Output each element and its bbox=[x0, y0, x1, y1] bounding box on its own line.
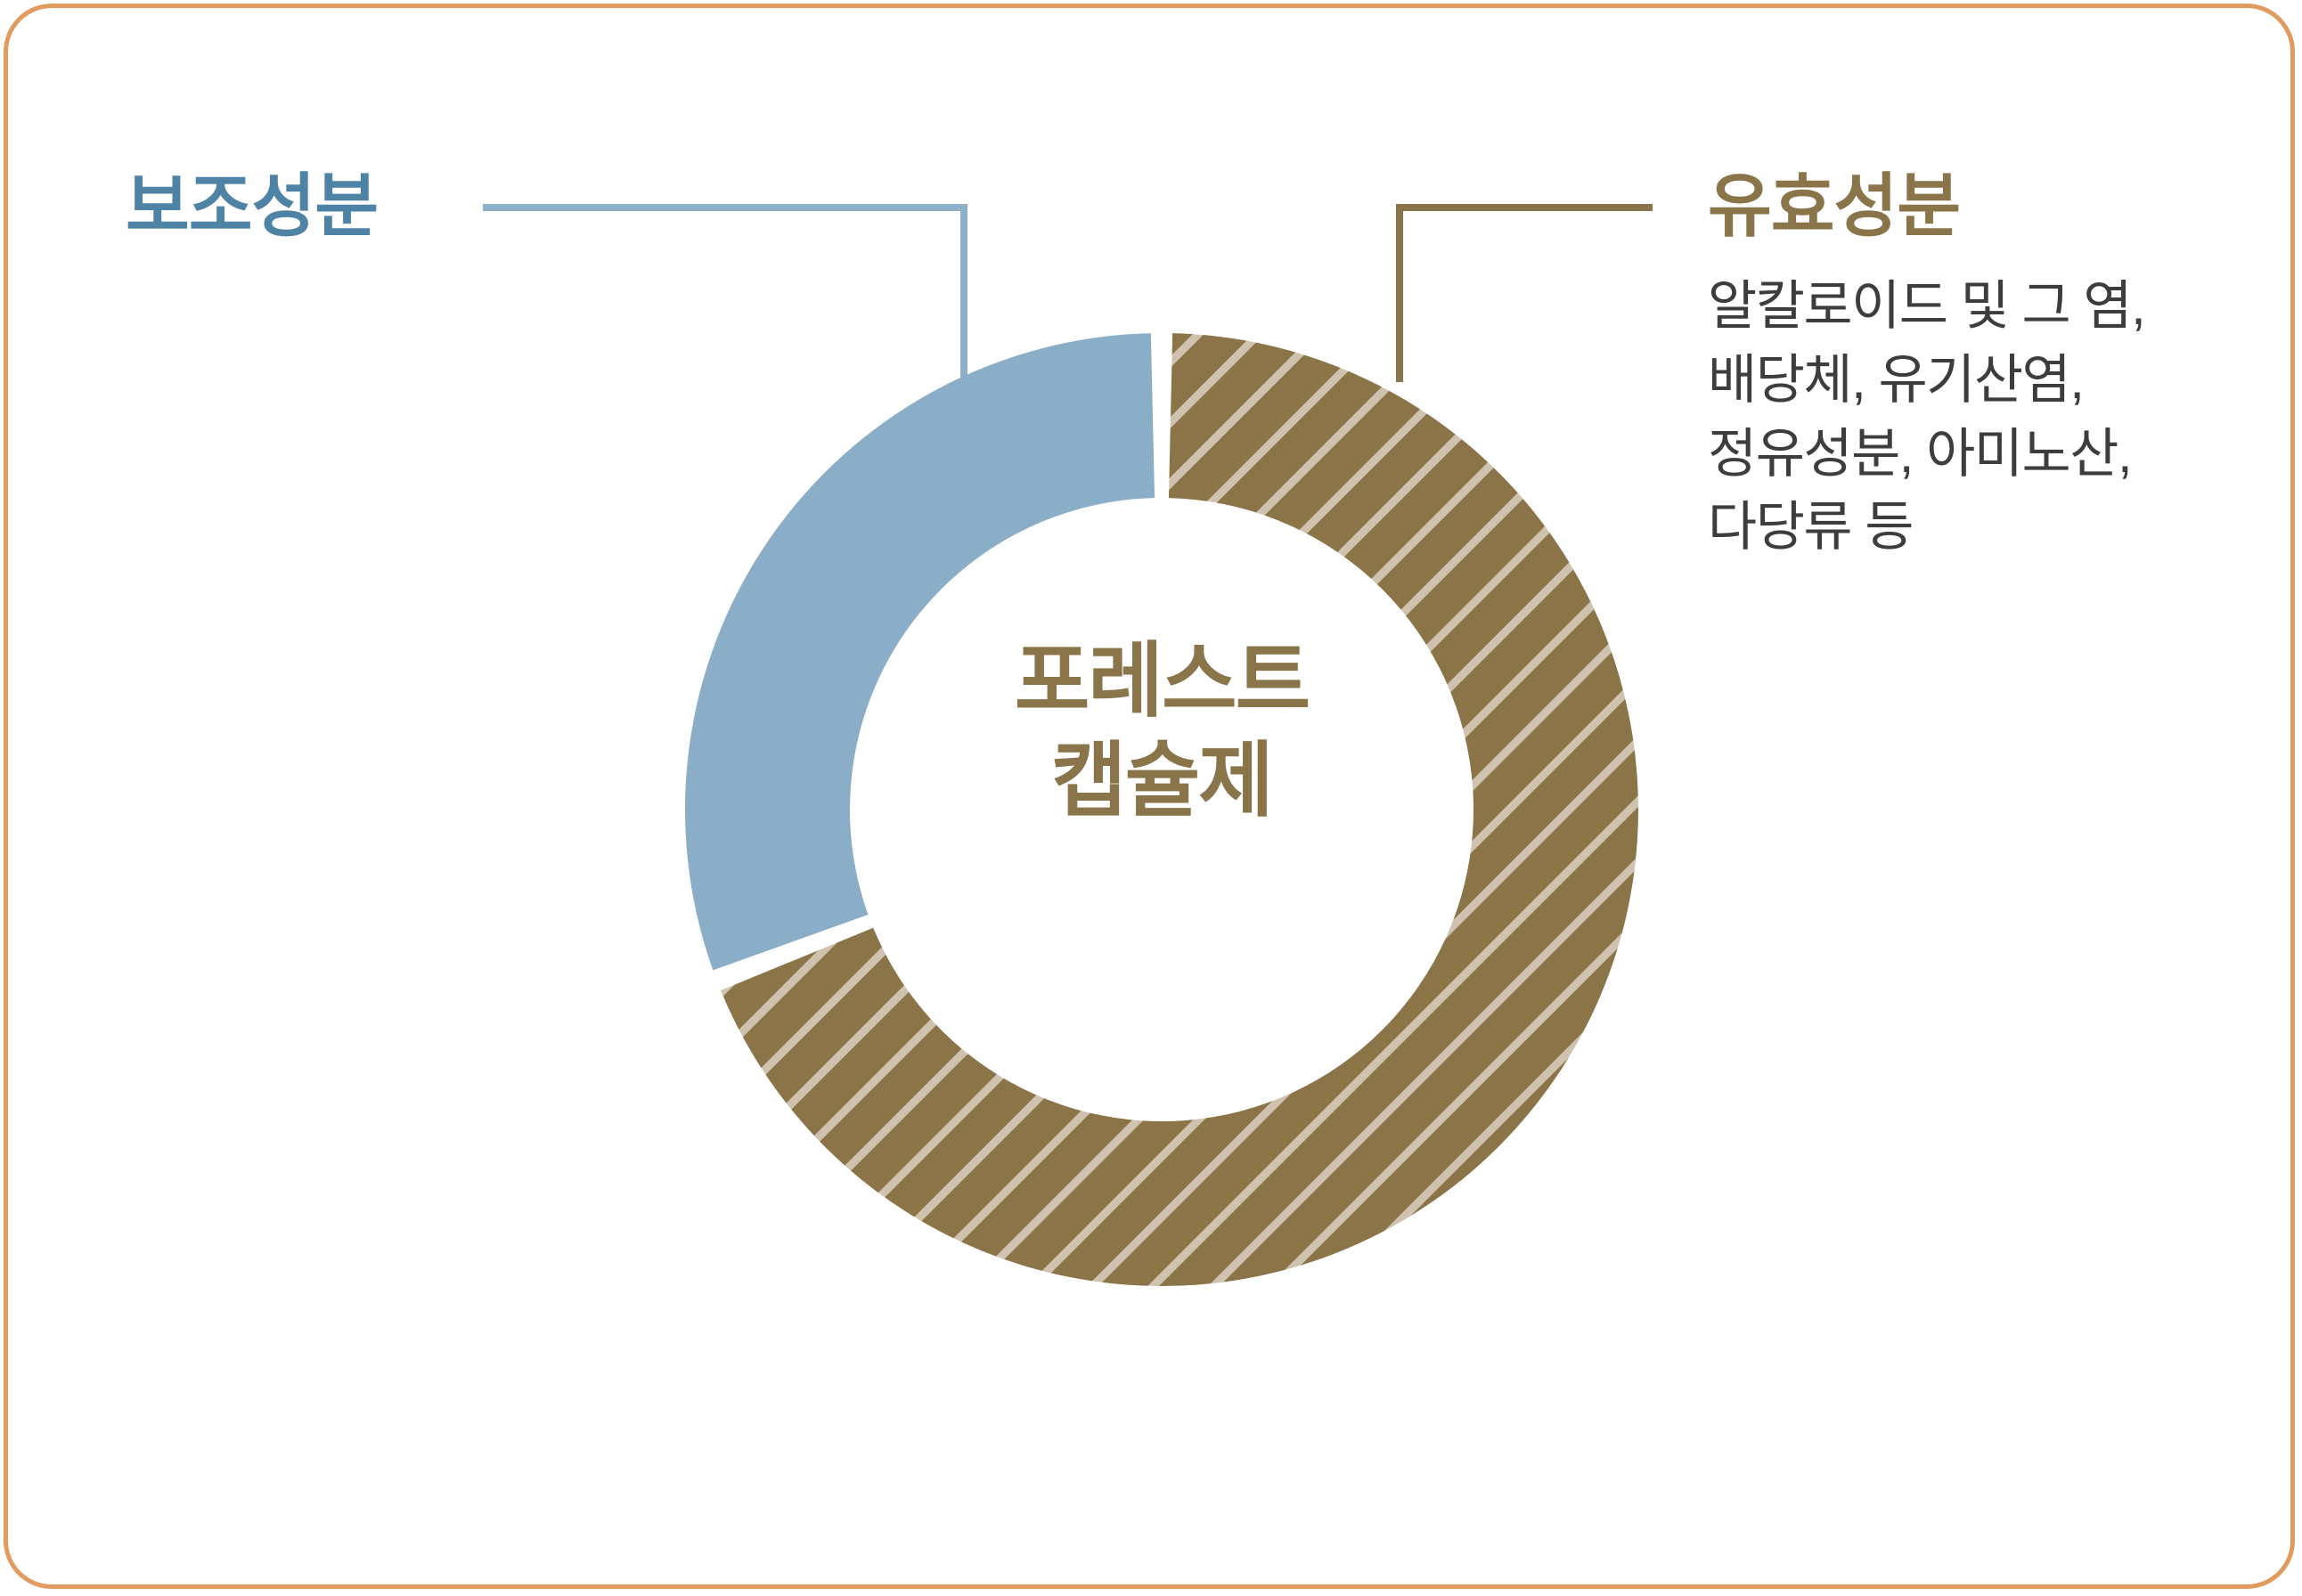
active-ingredient-detail-line-1: 알칼로이드 및 그 염, bbox=[1708, 270, 2278, 344]
active-ingredient-detail-line-2: 배당체, 유기산염, bbox=[1708, 344, 2278, 418]
info-card: 보조성분 유효성분 알칼로이드 및 그 염, 배당체, 유기산염, 정유성분, … bbox=[4, 4, 2295, 1589]
donut-slice-aux[interactable] bbox=[685, 333, 1155, 970]
aux-leader-horizontal-line bbox=[483, 204, 967, 211]
active-ingredient-detail-line-4: 다당류 등 bbox=[1708, 491, 2278, 565]
aux-ingredient-label: 보조성분 bbox=[126, 151, 378, 250]
active-ingredient-detail-line-3: 정유성분, 아미노산, bbox=[1708, 418, 2278, 492]
active-ingredient-label: 유효성분 bbox=[1708, 151, 2278, 250]
active-ingredient-callout: 유효성분 알칼로이드 및 그 염, 배당체, 유기산염, 정유성분, 아미노산,… bbox=[1708, 151, 2278, 565]
donut-chart-svg bbox=[667, 315, 1656, 1304]
active-leader-horizontal-line bbox=[1396, 204, 1653, 211]
donut-chart bbox=[667, 315, 1656, 1304]
